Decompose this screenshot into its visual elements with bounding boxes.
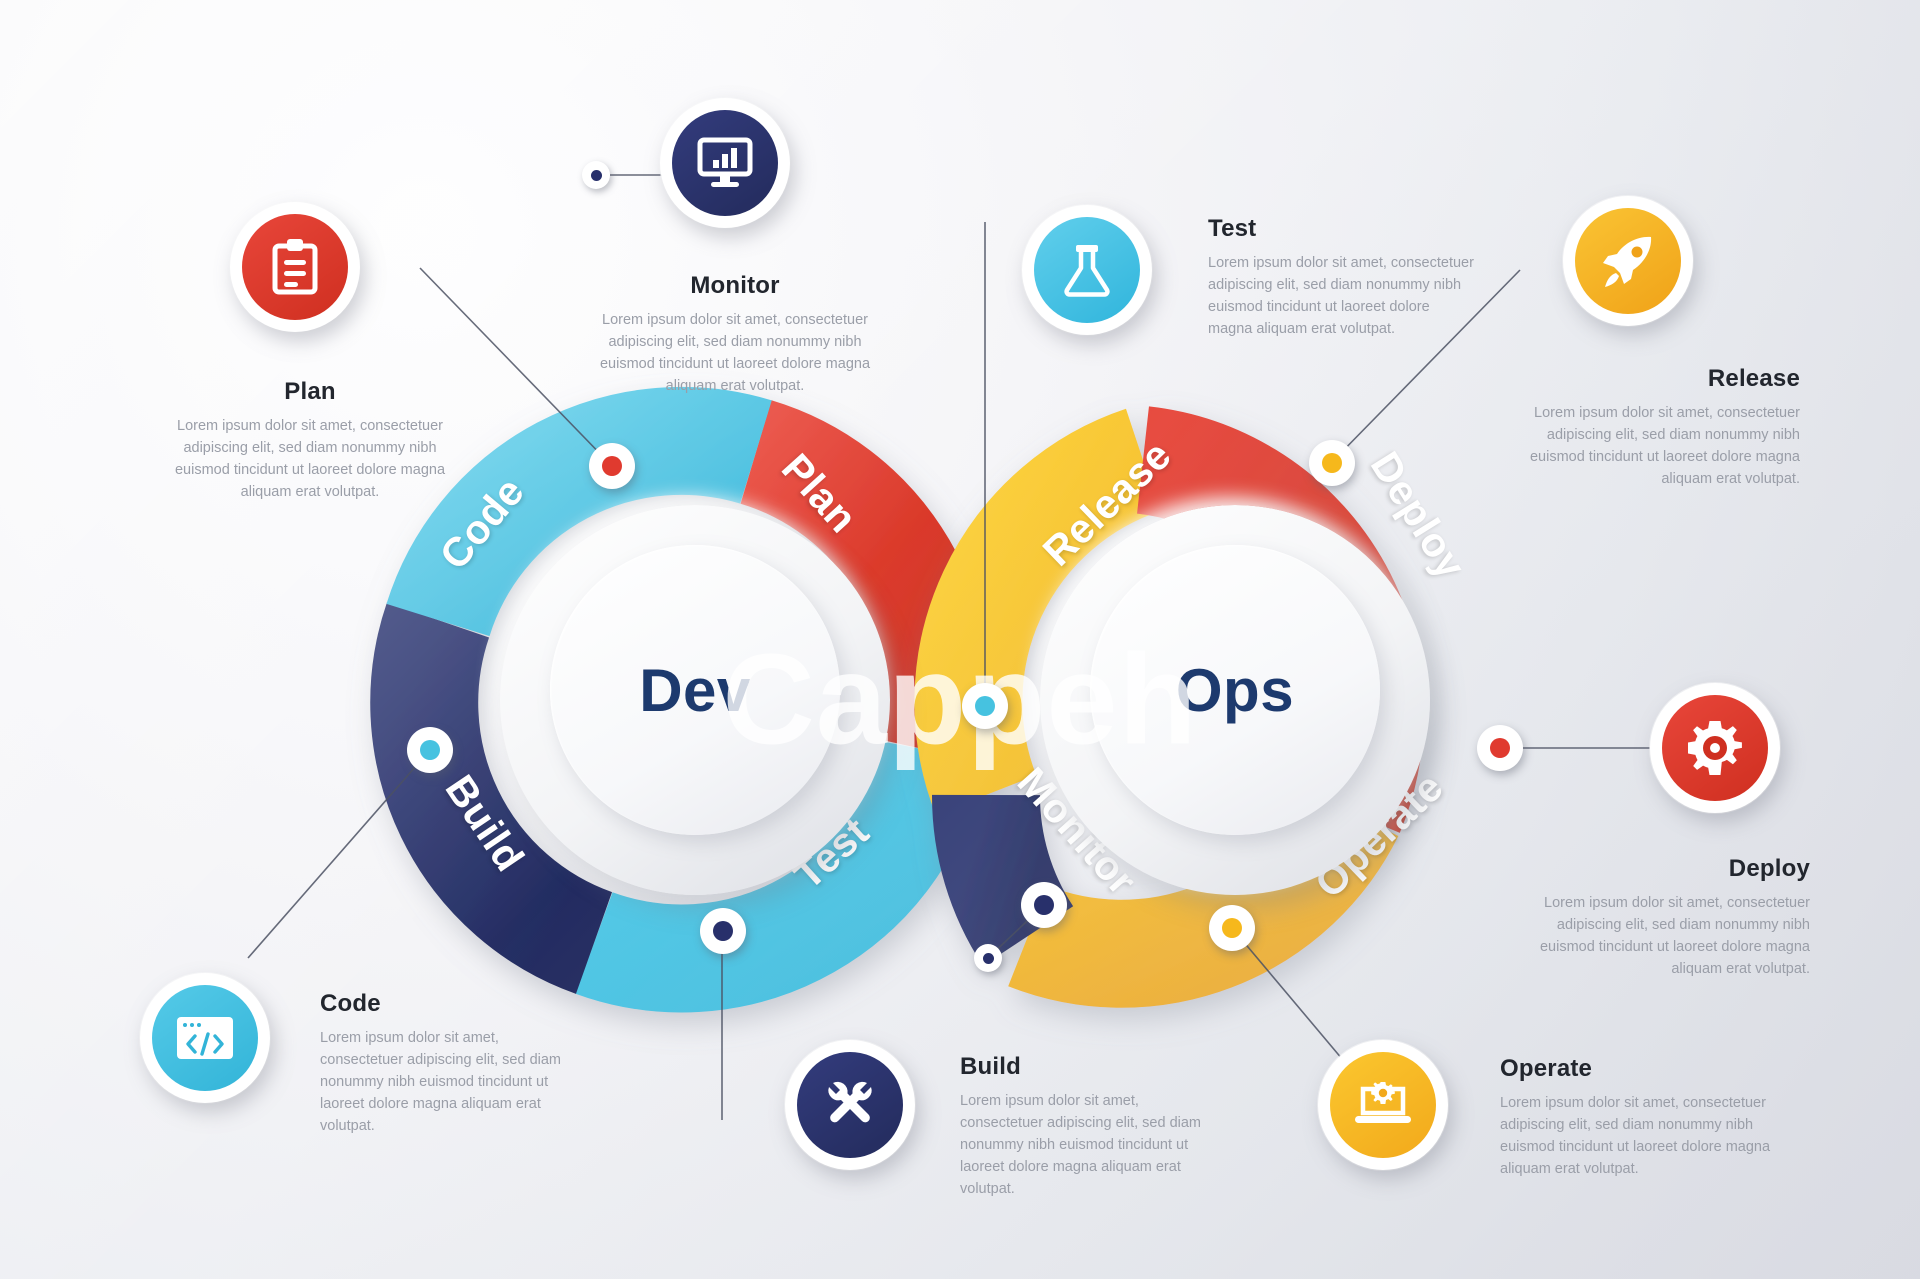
code-body: Lorem ipsum dolor sit amet, consectetuer…	[320, 1027, 585, 1137]
clipboard-icon	[269, 238, 321, 296]
test-body: Lorem ipsum dolor sit amet, consectetuer…	[1208, 252, 1478, 340]
code-badge[interactable]	[140, 973, 270, 1103]
test-title: Test	[1208, 215, 1478, 243]
release-disc	[1575, 208, 1681, 314]
deploy-badge[interactable]	[1650, 683, 1780, 813]
operate-badge[interactable]	[1318, 1040, 1448, 1170]
marker-build[interactable]	[407, 727, 453, 773]
flask-icon	[1062, 242, 1112, 298]
operate-body: Lorem ipsum dolor sit amet, consectetuer…	[1500, 1092, 1780, 1180]
code-disc	[152, 985, 258, 1091]
laptop-gear-icon	[1353, 1080, 1413, 1130]
infographic-canvas: Cappeh Plan Code Build Test Release Depl…	[0, 0, 1920, 1279]
monitor-disc	[672, 110, 778, 216]
tools-icon	[822, 1077, 878, 1133]
marker-release[interactable]	[1309, 440, 1355, 486]
ops-hub-label: Ops	[1176, 656, 1294, 725]
code-text: Code Lorem ipsum dolor sit amet, consect…	[320, 990, 585, 1137]
build-body: Lorem ipsum dolor sit amet, consectetuer…	[960, 1090, 1225, 1200]
deploy-title: Deploy	[1510, 855, 1810, 883]
build-badge[interactable]	[785, 1040, 915, 1170]
marker-plan[interactable]	[589, 443, 635, 489]
monitor-badge[interactable]	[660, 98, 790, 228]
marker-test[interactable]	[700, 908, 746, 954]
monitor-text: Monitor Lorem ipsum dolor sit amet, cons…	[585, 272, 885, 397]
release-title: Release	[1500, 365, 1800, 393]
deploy-body: Lorem ipsum dolor sit amet, consectetuer…	[1510, 892, 1810, 980]
dot-monitor-ops[interactable]	[974, 944, 1002, 972]
plan-text: Plan Lorem ipsum dolor sit amet, consect…	[160, 378, 460, 503]
plan-body: Lorem ipsum dolor sit amet, consectetuer…	[160, 415, 460, 503]
monitor-chart-icon	[696, 137, 754, 189]
monitor-body: Lorem ipsum dolor sit amet, consectetuer…	[585, 309, 885, 397]
test-text: Test Lorem ipsum dolor sit amet, consect…	[1208, 215, 1478, 340]
operate-text: Operate Lorem ipsum dolor sit amet, cons…	[1500, 1055, 1780, 1180]
plan-disc	[242, 214, 348, 320]
dev-hub-label: Dev	[639, 656, 751, 725]
marker-deploy[interactable]	[1477, 725, 1523, 771]
rocket-icon	[1599, 232, 1657, 290]
test-badge[interactable]	[1022, 205, 1152, 335]
deploy-disc	[1662, 695, 1768, 801]
release-body: Lorem ipsum dolor sit amet, consectetuer…	[1500, 402, 1800, 490]
build-disc	[797, 1052, 903, 1158]
build-title: Build	[960, 1053, 1225, 1081]
release-text: Release Lorem ipsum dolor sit amet, cons…	[1500, 365, 1800, 490]
release-badge[interactable]	[1563, 196, 1693, 326]
operate-disc	[1330, 1052, 1436, 1158]
code-title: Code	[320, 990, 585, 1018]
plan-title: Plan	[160, 378, 460, 406]
test-disc	[1034, 217, 1140, 323]
connector-operate	[1232, 928, 1348, 1066]
marker-monitor[interactable]	[1021, 882, 1067, 928]
marker-operate[interactable]	[1209, 905, 1255, 951]
operate-title: Operate	[1500, 1055, 1780, 1083]
gear-icon	[1686, 719, 1744, 777]
connector-code	[248, 750, 430, 958]
marker-center[interactable]	[962, 683, 1008, 729]
code-window-icon	[175, 1014, 235, 1062]
plan-badge[interactable]	[230, 202, 360, 332]
dot-monitor-dev[interactable]	[582, 161, 610, 189]
build-text: Build Lorem ipsum dolor sit amet, consec…	[960, 1053, 1225, 1200]
deploy-text: Deploy Lorem ipsum dolor sit amet, conse…	[1510, 855, 1810, 980]
monitor-title: Monitor	[585, 272, 885, 300]
